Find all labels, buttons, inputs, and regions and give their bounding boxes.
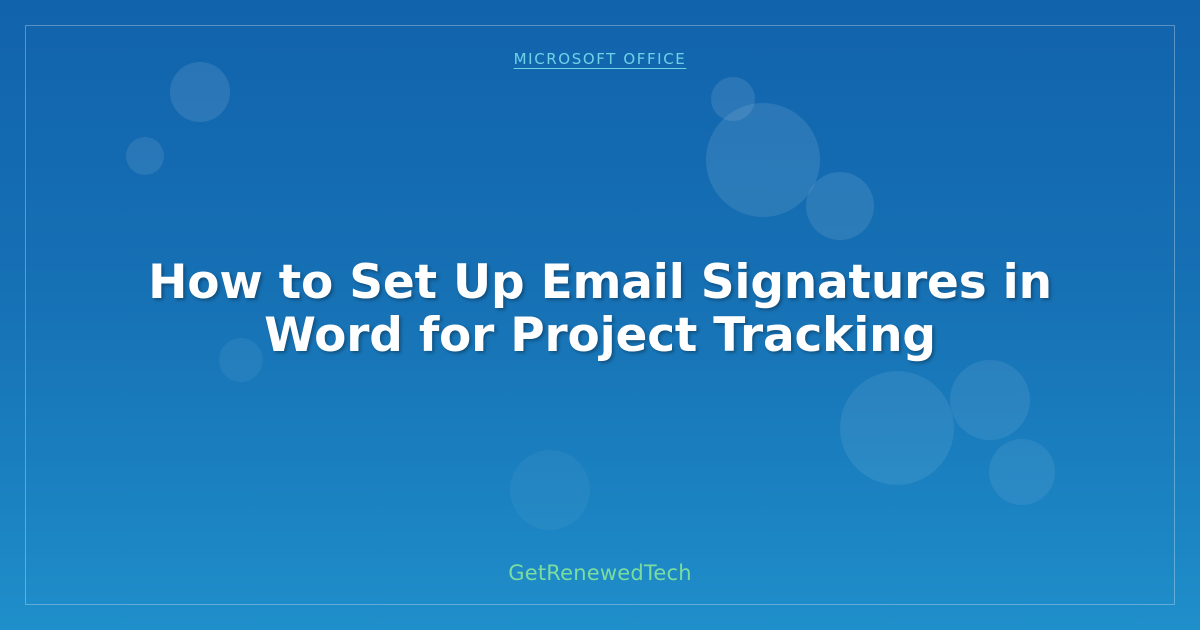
social-share-card: MICROSOFT OFFICE How to Set Up Email Sig… [0,0,1200,630]
page-title: How to Set Up Email Signatures in Word f… [120,256,1080,362]
brand-name: GetRenewedTech [508,561,691,586]
card-content: MICROSOFT OFFICE How to Set Up Email Sig… [0,0,1200,630]
title-container: How to Set Up Email Signatures in Word f… [60,58,1140,561]
